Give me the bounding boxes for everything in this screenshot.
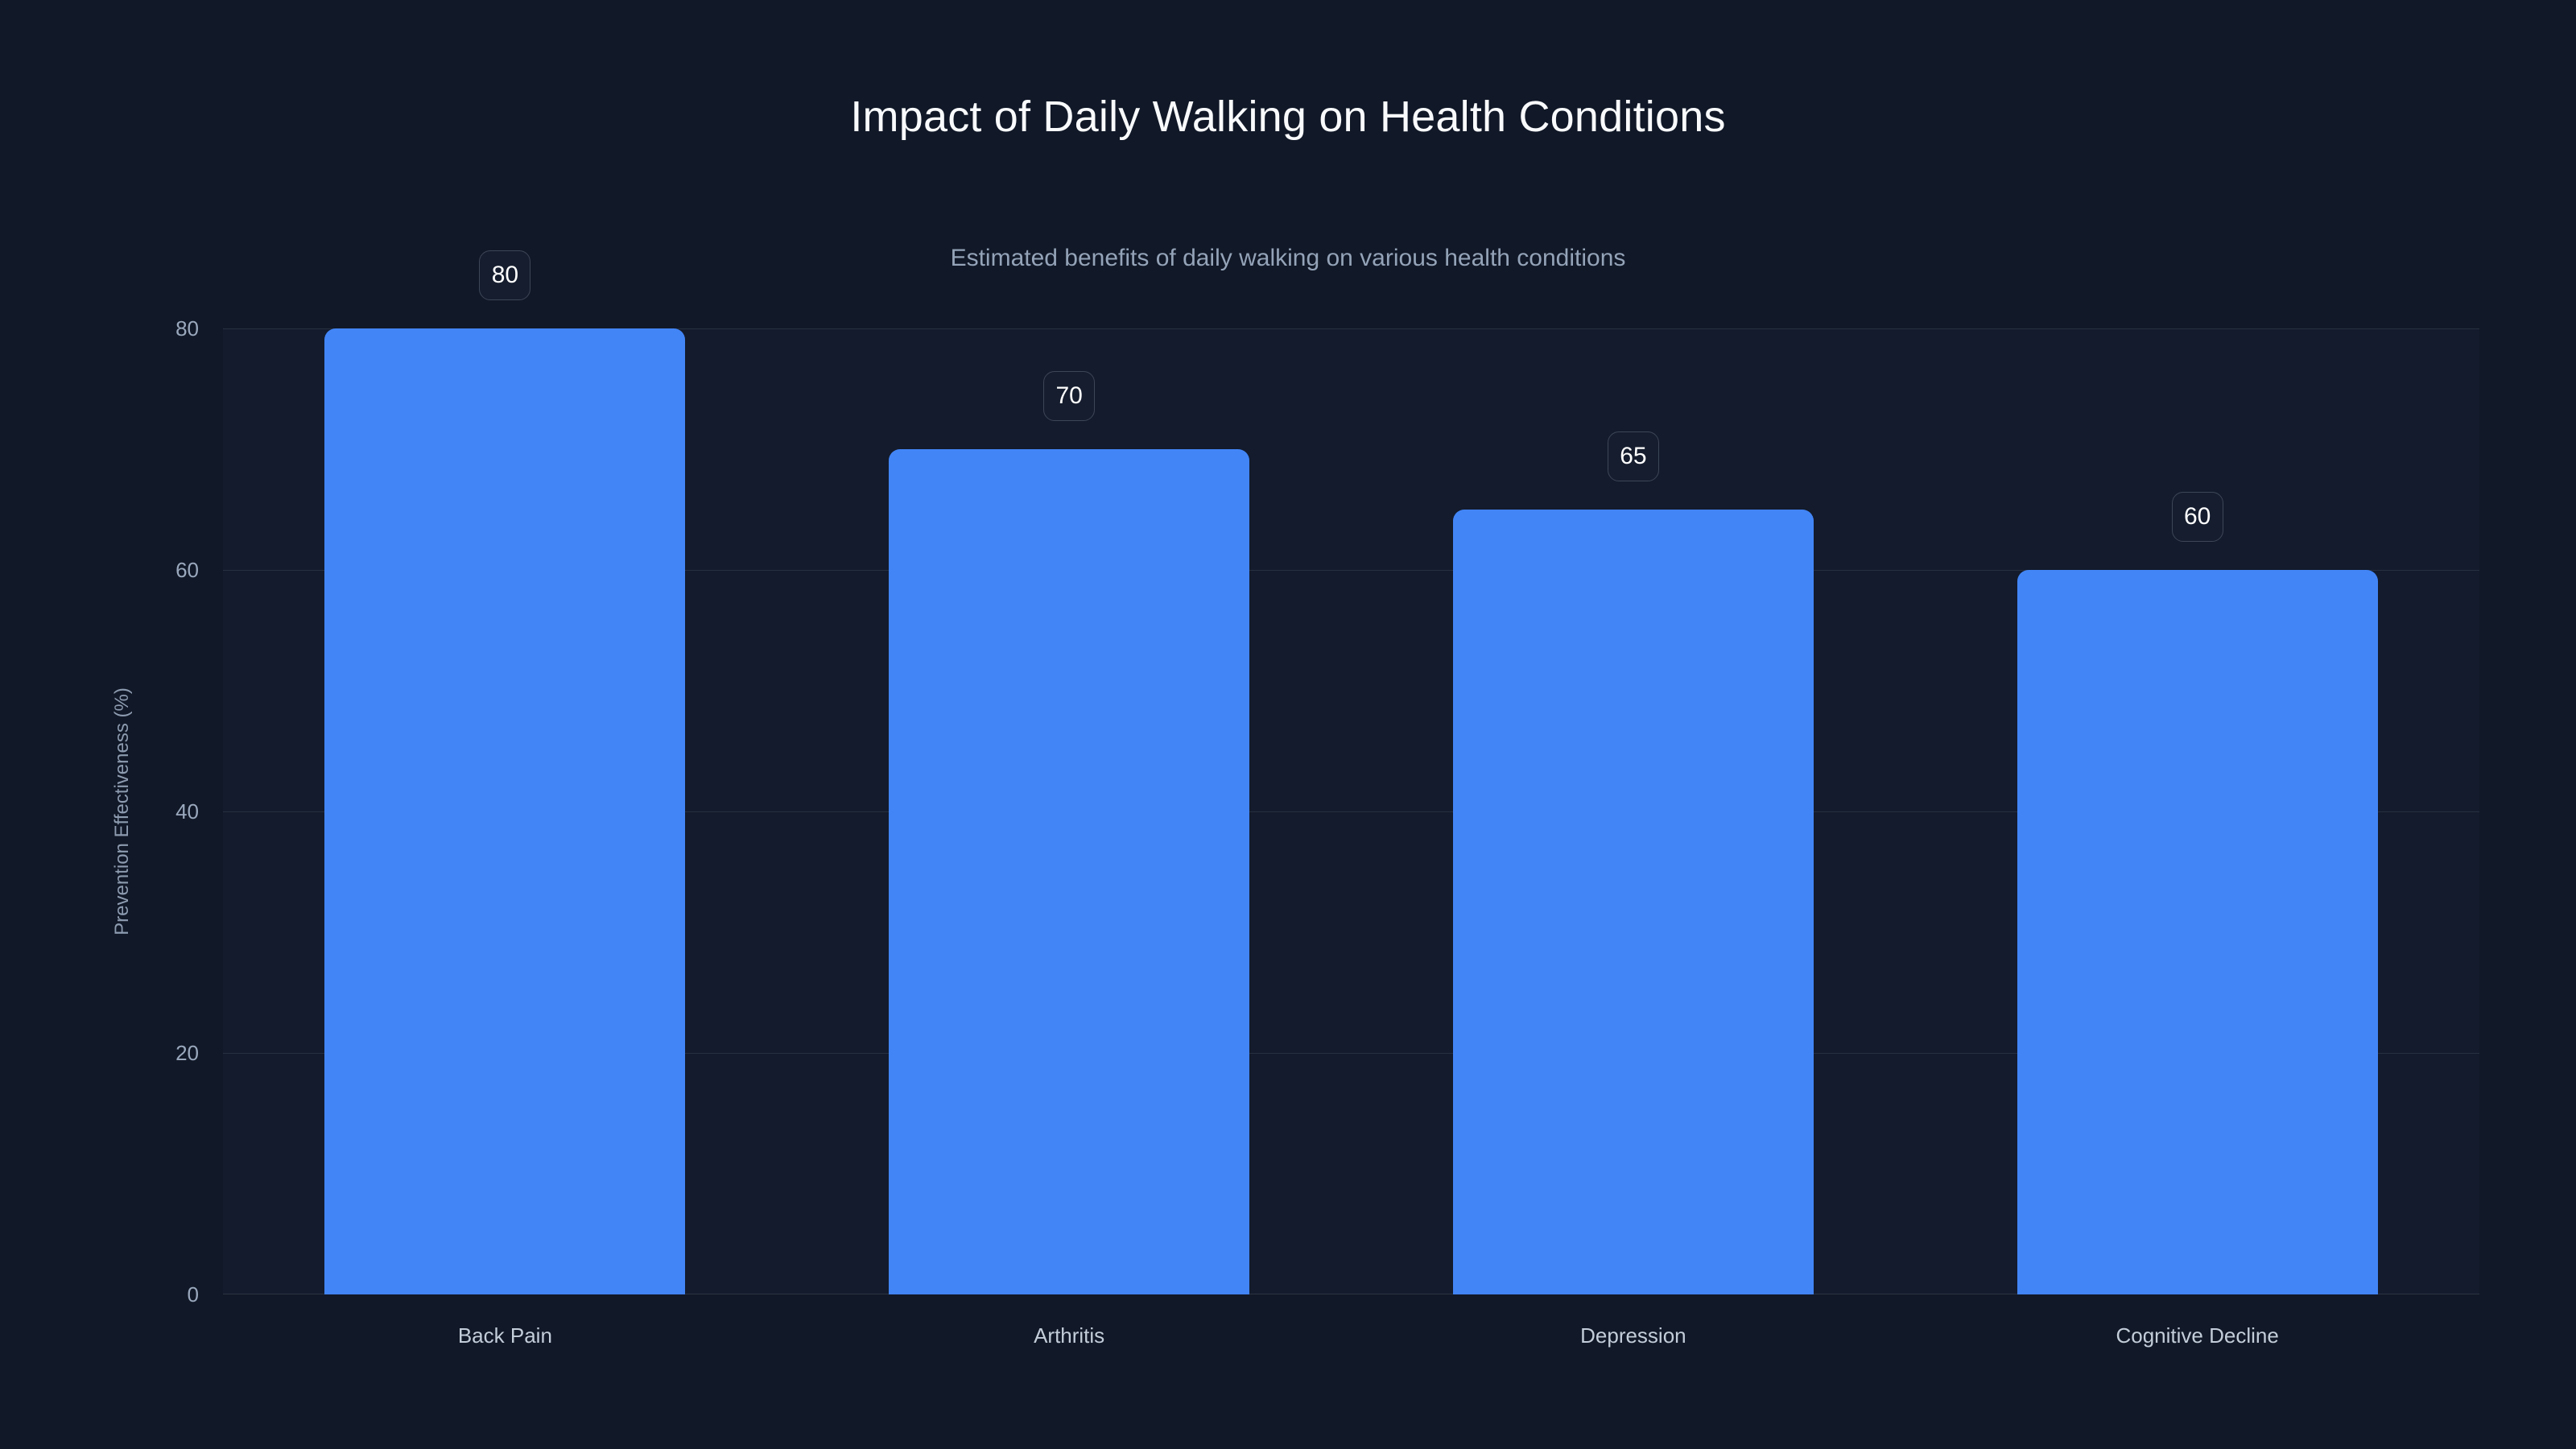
plot-area: [223, 328, 2479, 1294]
bar-value-label: 65: [1608, 431, 1659, 481]
x-axis-tick-label: Cognitive Decline: [2116, 1325, 2278, 1346]
bar-arthritis[interactable]: [889, 449, 1249, 1294]
chart-title: Impact of Daily Walking on Health Condit…: [0, 95, 2576, 138]
y-axis-tick-label: 60: [102, 559, 199, 580]
x-axis-tick-label: Back Pain: [458, 1325, 552, 1346]
bar-cognitive-decline[interactable]: [2017, 570, 2378, 1294]
x-axis-tick-label: Arthritis: [1034, 1325, 1104, 1346]
bar-depression[interactable]: [1453, 510, 1814, 1294]
bar-value-label: 70: [1043, 371, 1095, 421]
y-axis-tick-label: 0: [102, 1284, 199, 1305]
chart-subtitle: Estimated benefits of daily walking on v…: [0, 246, 2576, 270]
x-axis-tick-label: Depression: [1580, 1325, 1686, 1346]
bar-chart-figure: Impact of Daily Walking on Health Condit…: [0, 0, 2576, 1449]
bar-back-pain[interactable]: [324, 328, 685, 1294]
y-axis-tick-label: 20: [102, 1042, 199, 1063]
y-axis-tick-label: 40: [102, 801, 199, 822]
y-axis-tick-label: 80: [102, 318, 199, 339]
bar-value-label: 60: [2172, 492, 2223, 542]
bar-value-label: 80: [479, 250, 530, 300]
